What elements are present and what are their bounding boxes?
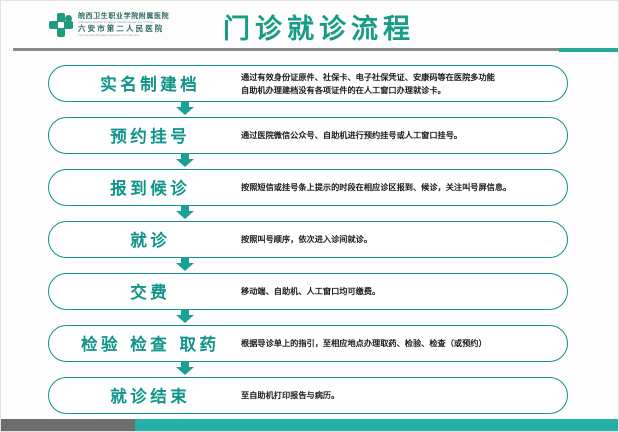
step-title: 就诊 bbox=[61, 227, 236, 251]
step-description-line: 通过医院微信公众号、自助机进行预约挂号或人工窗口挂号。 bbox=[241, 129, 561, 142]
step-description: 按照短信或挂号条上提示的时段在相应诊区报到、候诊，关注叫号屏信息。 bbox=[241, 164, 581, 211]
hospital-logo: 皖西卫生职业学院附属医院 Affiliated Hospital of Wanx… bbox=[48, 12, 169, 38]
step-description: 按照叫号顺序，依次进入诊间就诊。 bbox=[241, 216, 561, 263]
step-title: 就诊结束 bbox=[61, 383, 236, 407]
footer-bar-gray bbox=[1, 419, 135, 432]
hospital-name-en-secondary: The Second People's Hospital of Lu'an Ci… bbox=[78, 34, 169, 37]
hospital-logo-text: 皖西卫生职业学院附属医院 Affiliated Hospital of Wanx… bbox=[78, 13, 169, 37]
flow-step-6: 检验 检查 取药 根据导诊单上的指引，至相应地点办理取药、检验、检查（或预约） bbox=[1, 320, 619, 372]
page-header: 皖西卫生职业学院附属医院 Affiliated Hospital of Wanx… bbox=[1, 1, 619, 45]
header-divider bbox=[13, 48, 559, 51]
step-title: 实名制建档 bbox=[61, 71, 236, 95]
step-description: 移动端、自助机、人工窗口均可缴费。 bbox=[241, 268, 561, 315]
hospital-name-en-primary: Affiliated Hospital of Wanxi Health Voca… bbox=[78, 21, 169, 24]
step-description: 根据导诊单上的指引，至相应地点办理取药、检验、检查（或预约） bbox=[241, 320, 581, 367]
page-title: 门诊就诊流程 bbox=[223, 7, 415, 46]
step-description-line: 按照短信或挂号条上提示的时段在相应诊区报到、候诊，关注叫号屏信息。 bbox=[241, 181, 581, 194]
hospital-name-cn-primary: 皖西卫生职业学院附属医院 bbox=[78, 13, 169, 20]
flow-step-5: 交费 移动端、自助机、人工窗口均可缴费。 bbox=[1, 268, 619, 320]
flow-steps-container: 实名制建档 通过有效身份证原件、社保卡、电子社保凭证、安康码等在医院多功能 自助… bbox=[1, 60, 619, 418]
step-description-line: 按照叫号顺序，依次进入诊间就诊。 bbox=[241, 233, 561, 246]
step-description-line: 通过有效身份证原件、社保卡、电子社保凭证、安康码等在医院多功能 bbox=[241, 71, 561, 84]
flow-step-1: 实名制建档 通过有效身份证原件、社保卡、电子社保凭证、安康码等在医院多功能 自助… bbox=[1, 60, 619, 112]
step-description-line: 根据导诊单上的指引，至相应地点办理取药、检验、检查（或预约） bbox=[241, 337, 581, 350]
step-description-line: 移动端、自助机、人工窗口均可缴费。 bbox=[241, 285, 561, 298]
header-divider-accent bbox=[559, 48, 619, 52]
step-description-line: 自助机办理建档没有各项证件的在人工窗口办理就诊卡。 bbox=[241, 84, 561, 97]
step-description: 至自助机打印报告与病历。 bbox=[241, 372, 561, 419]
hospital-cross-icon bbox=[48, 12, 74, 38]
hospital-name-cn-secondary: 六安市第二人民医院 bbox=[78, 25, 169, 33]
flow-step-3: 报到候诊 按照短信或挂号条上提示的时段在相应诊区报到、候诊，关注叫号屏信息。 bbox=[1, 164, 619, 216]
step-description: 通过有效身份证原件、社保卡、电子社保凭证、安康码等在医院多功能 自助机办理建档没… bbox=[241, 60, 561, 107]
flow-step-4: 就诊 按照叫号顺序，依次进入诊间就诊。 bbox=[1, 216, 619, 268]
flowchart-page: 皖西卫生职业学院附属医院 Affiliated Hospital of Wanx… bbox=[0, 0, 619, 432]
step-title: 交费 bbox=[61, 279, 236, 303]
step-description-line: 至自助机打印报告与病历。 bbox=[241, 389, 561, 402]
footer-bar-teal bbox=[135, 419, 619, 432]
step-title: 报到候诊 bbox=[61, 175, 236, 199]
flow-step-2: 预约挂号 通过医院微信公众号、自助机进行预约挂号或人工窗口挂号。 bbox=[1, 112, 619, 164]
step-title: 预约挂号 bbox=[61, 123, 236, 147]
step-description: 通过医院微信公众号、自助机进行预约挂号或人工窗口挂号。 bbox=[241, 112, 561, 159]
flow-step-7: 就诊结束 至自助机打印报告与病历。 bbox=[1, 372, 619, 418]
step-title: 检验 检查 取药 bbox=[61, 331, 236, 355]
